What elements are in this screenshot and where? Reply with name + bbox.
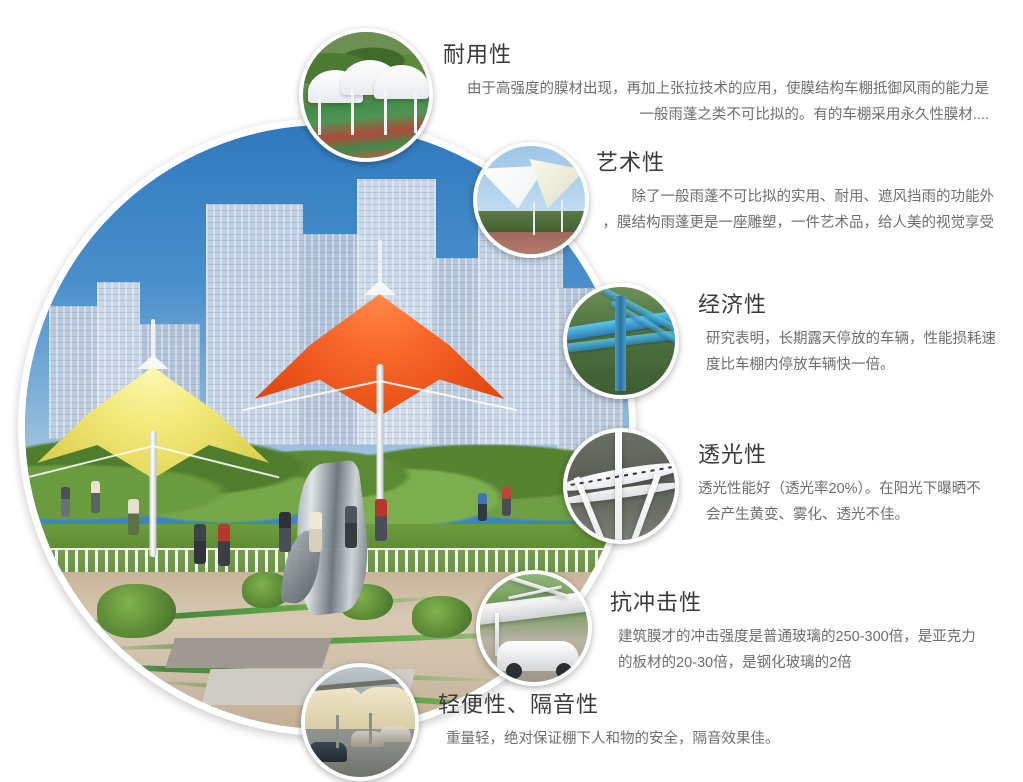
support-post bbox=[533, 202, 535, 234]
pedestrian bbox=[502, 487, 511, 516]
feature-block-2: 经济性 研究表明，长期露天停放的车辆，性能损耗速 度比车棚内停放车辆快一倍。 bbox=[698, 290, 998, 378]
feature-body-2: 研究表明，长期露天停放的车辆，性能损耗速 度比车棚内停放车辆快一倍。 bbox=[698, 326, 998, 378]
poster-canvas: 耐用性 由于高强度的膜材出现，再加上张拉技术的应用，使膜结构车棚抵御风雨的能力是… bbox=[0, 0, 1023, 782]
feature-line: 透光性能好（透光率20%）。在阳光下曝晒不 bbox=[698, 476, 998, 502]
thumb-image-5 bbox=[305, 667, 415, 777]
thumb-image-4 bbox=[480, 574, 588, 682]
thumb-image-0 bbox=[303, 32, 429, 158]
feature-body-0: 由于高强度的膜材出现，再加上张拉技术的应用，使膜结构车棚抵御风雨的能力是 一般雨… bbox=[443, 76, 989, 128]
feature-line: 一般雨蓬之类不可比拟的。有的车棚采用永久性膜材.... bbox=[443, 102, 989, 128]
car-wheel bbox=[556, 663, 572, 679]
feature-line: 除了一般雨蓬不可比拟的实用、耐用、遮风挡雨的功能外 bbox=[596, 184, 994, 210]
feature-thumb-3[interactable] bbox=[563, 428, 679, 544]
feature-block-5: 轻便性、隔音性 重量轻，绝对保证棚下人和物的安全，隔音效果佳。 bbox=[438, 690, 858, 752]
feature-line: 重量轻，绝对保证棚下人和物的安全，隔音效果佳。 bbox=[446, 726, 858, 752]
pedestrian bbox=[279, 512, 291, 552]
parked-car bbox=[309, 742, 346, 762]
support-strut bbox=[615, 432, 622, 540]
orange-membrane-canopy bbox=[255, 294, 505, 416]
feature-body-5: 重量轻，绝对保证棚下人和物的安全，隔音效果佳。 bbox=[438, 726, 858, 752]
feature-line: 研究表明，长期露天停放的车辆，性能损耗速 bbox=[706, 326, 998, 352]
tree-horizon bbox=[477, 211, 585, 235]
feature-thumb-1[interactable] bbox=[473, 142, 589, 258]
feature-line: 的板材的20-30倍，是钢化玻璃的2倍 bbox=[618, 650, 1000, 676]
feature-line: 会产生黄变、雾化、透光不佳。 bbox=[698, 502, 998, 528]
feature-title-2: 经济性 bbox=[698, 290, 998, 320]
feature-thumb-5[interactable] bbox=[301, 663, 419, 781]
pedestrian bbox=[375, 499, 387, 541]
feature-title-0: 耐用性 bbox=[443, 40, 989, 70]
support-post bbox=[336, 715, 339, 748]
feature-body-4: 建筑膜才的冲击强度是普通玻璃的250-300倍，是亚克力 的板材的20-30倍，… bbox=[610, 624, 1000, 676]
feature-title-5: 轻便性、隔音性 bbox=[438, 690, 858, 720]
running-track bbox=[477, 232, 585, 254]
feature-block-1: 艺术性 除了一般雨蓬不可比拟的实用、耐用、遮风挡雨的功能外 ，膜结构雨蓬更是一座… bbox=[596, 148, 994, 236]
plaza-step bbox=[165, 638, 332, 668]
feature-title-4: 抗冲击性 bbox=[610, 588, 1000, 618]
support-post bbox=[351, 87, 354, 135]
feature-thumb-2[interactable] bbox=[563, 283, 679, 399]
feature-block-4: 抗冲击性 建筑膜才的冲击强度是普通玻璃的250-300倍，是亚克力 的板材的20… bbox=[610, 588, 1000, 676]
support-post bbox=[369, 713, 372, 744]
pedestrian bbox=[345, 506, 357, 548]
pedestrian bbox=[478, 493, 487, 521]
support-post bbox=[318, 92, 321, 135]
support-post bbox=[384, 90, 387, 135]
pedestrian bbox=[218, 524, 230, 566]
feature-line: 度比车棚内停放车辆快一倍。 bbox=[706, 352, 998, 378]
thumb-image-3 bbox=[567, 432, 675, 540]
thumb-image-2 bbox=[567, 287, 675, 395]
canopy-mast bbox=[150, 431, 157, 557]
car-wheel bbox=[506, 663, 522, 679]
feature-title-1: 艺术性 bbox=[596, 148, 994, 178]
parked-car bbox=[380, 726, 411, 741]
feature-block-0: 耐用性 由于高强度的膜材出现，再加上张拉技术的应用，使膜结构车棚抵御风雨的能力是… bbox=[443, 40, 989, 128]
canopy-cap bbox=[364, 280, 396, 295]
feature-body-1: 除了一般雨蓬不可比拟的实用、耐用、遮风挡雨的功能外 ，膜结构雨蓬更是一座雕塑，一… bbox=[596, 184, 994, 236]
pedestrian bbox=[61, 487, 70, 517]
feature-body-3: 透光性能好（透光率20%）。在阳光下曝晒不 会产生黄变、雾化、透光不佳。 bbox=[698, 476, 998, 528]
membrane-carport bbox=[351, 687, 415, 729]
pedestrian bbox=[309, 512, 322, 552]
support-post bbox=[414, 92, 417, 132]
feature-title-3: 透光性 bbox=[698, 440, 998, 470]
feature-thumb-4[interactable] bbox=[476, 570, 592, 686]
feature-thumb-0[interactable] bbox=[299, 28, 433, 162]
feature-line: 建筑膜才的冲击强度是普通玻璃的250-300倍，是亚克力 bbox=[618, 624, 1000, 650]
feature-line: 由于高强度的膜材出现，再加上张拉技术的应用，使膜结构车棚抵御风雨的能力是 bbox=[443, 76, 989, 102]
thumb-image-1 bbox=[477, 146, 585, 254]
sports-court bbox=[303, 94, 429, 158]
pedestrian bbox=[194, 524, 206, 564]
pedestrian bbox=[128, 499, 139, 535]
pedestrian bbox=[91, 481, 100, 513]
feature-block-3: 透光性 透光性能好（透光率20%）。在阳光下曝晒不 会产生黄变、雾化、透光不佳。 bbox=[698, 440, 998, 528]
steel-column bbox=[615, 296, 626, 391]
yellow-membrane-canopy bbox=[37, 367, 269, 479]
support-post bbox=[561, 200, 563, 232]
feature-line: ，膜结构雨蓬更是一座雕塑，一件艺术品，给人美的视觉享受 bbox=[596, 210, 994, 236]
canopy-cap bbox=[137, 355, 169, 369]
canopy-spire bbox=[151, 319, 155, 359]
